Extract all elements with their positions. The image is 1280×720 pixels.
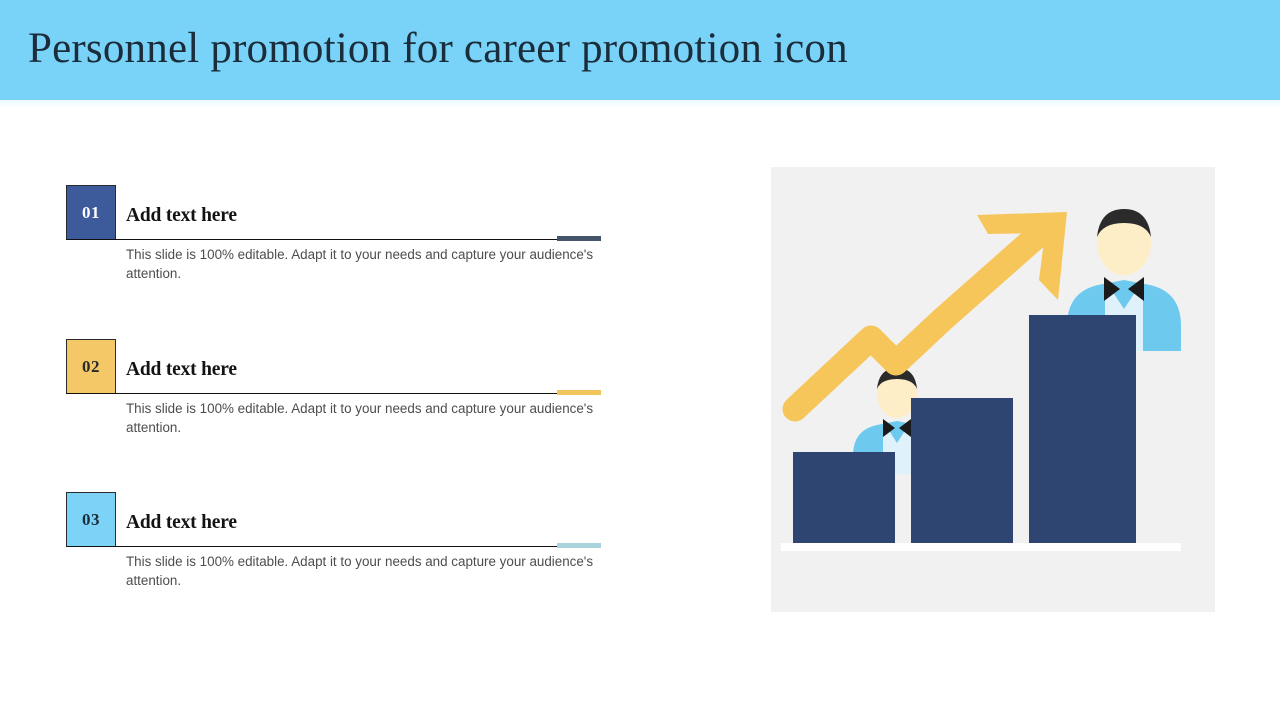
steps-list: 01 Add text here This slide is 100% edit… — [0, 0, 660, 720]
step-heading-02: Add text here — [126, 359, 237, 381]
step-item-03[interactable]: 03 Add text here This slide is 100% edit… — [0, 492, 660, 622]
step-rule-03 — [66, 546, 601, 547]
step-rule-accent-01 — [557, 236, 601, 241]
step-heading-03: Add text here — [126, 512, 237, 534]
step-rule-accent-03 — [557, 543, 601, 548]
step-heading-01: Add text here — [126, 205, 237, 227]
bar-1 — [793, 452, 895, 546]
step-badge-02: 02 — [66, 339, 116, 394]
illustration-panel — [771, 167, 1215, 612]
step-rule-01 — [66, 239, 601, 240]
step-item-02[interactable]: 02 Add text here This slide is 100% edit… — [0, 339, 660, 469]
step-number-03: 03 — [82, 510, 100, 530]
step-body-02: This slide is 100% editable. Adapt it to… — [126, 400, 610, 437]
chart-baseline — [781, 543, 1181, 551]
step-body-01: This slide is 100% editable. Adapt it to… — [126, 246, 610, 283]
step-number-01: 01 — [82, 203, 100, 223]
growth-arrow-icon — [795, 212, 1067, 409]
bar-3 — [1029, 315, 1136, 546]
step-body-03: This slide is 100% editable. Adapt it to… — [126, 553, 610, 590]
step-rule-02 — [66, 393, 601, 394]
career-growth-chart-graphic — [771, 167, 1215, 612]
step-rule-accent-02 — [557, 390, 601, 395]
step-number-02: 02 — [82, 357, 100, 377]
bar-2 — [911, 398, 1013, 546]
step-badge-03: 03 — [66, 492, 116, 547]
step-badge-01: 01 — [66, 185, 116, 240]
step-item-01[interactable]: 01 Add text here This slide is 100% edit… — [0, 185, 660, 315]
